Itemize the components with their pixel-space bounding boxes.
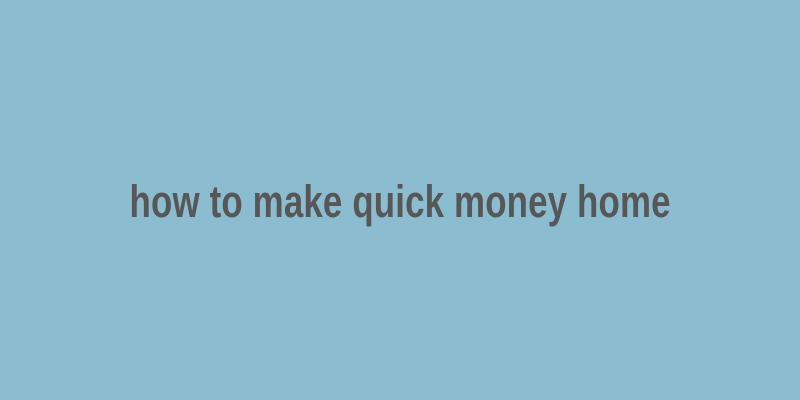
headline-text: how to make quick money home [129, 179, 670, 224]
banner-canvas: how to make quick money home [0, 0, 800, 400]
headline-container: how to make quick money home [0, 179, 800, 224]
